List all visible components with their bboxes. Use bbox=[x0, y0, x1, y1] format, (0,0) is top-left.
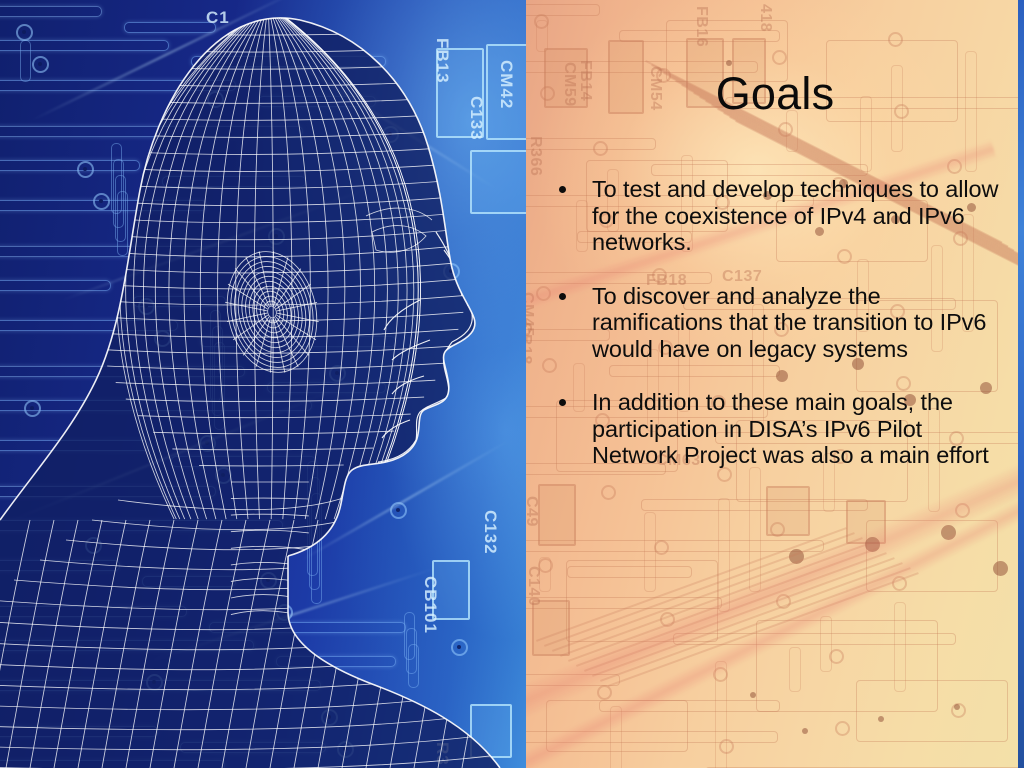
bullet-marker-icon bbox=[559, 399, 566, 406]
list-item: In addition to these main goals, the par… bbox=[545, 389, 1000, 469]
bullet-text: To test and develop techniques to allow … bbox=[592, 176, 998, 255]
silkscreen-label: CB18 bbox=[526, 322, 534, 365]
silkscreen-label: CM47 bbox=[526, 362, 528, 407]
bullet-text: In addition to these main goals, the par… bbox=[592, 389, 989, 468]
list-item: To discover and analyze the ramification… bbox=[545, 283, 1000, 363]
silkscreen-label: C49 bbox=[526, 496, 540, 527]
left-blue-circuit-panel: FB13C133CM42C132CB101R3C1 bbox=[0, 0, 526, 768]
bullet-list: To test and develop techniques to allow … bbox=[545, 176, 1000, 496]
silkscreen-label: 418 bbox=[756, 4, 774, 32]
page-title: Goals bbox=[560, 68, 990, 120]
bullet-marker-icon bbox=[559, 186, 566, 193]
silkscreen-label: C140 bbox=[526, 566, 542, 606]
presentation-slide: FB13C133CM42C132CB101R3C1 bbox=[0, 0, 1024, 768]
silkscreen-label: FB16 bbox=[692, 6, 710, 47]
right-edge-blue-strip bbox=[1018, 0, 1024, 768]
silkscreen-label: R366 bbox=[526, 136, 544, 176]
wireframe-head-graphic bbox=[0, 0, 526, 768]
bullet-marker-icon bbox=[559, 293, 566, 300]
bullet-text: To discover and analyze the ramification… bbox=[592, 283, 986, 362]
list-item: To test and develop techniques to allow … bbox=[545, 176, 1000, 256]
